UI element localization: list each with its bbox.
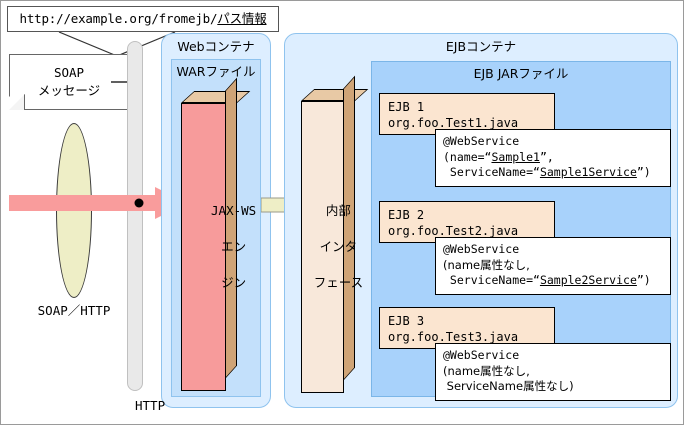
ejb-3-annotation-callout: @WebService (name属性なし, ServiceName属性なし) — [435, 343, 671, 401]
jaxws-engine-label: JAX-WS エン ジン — [151, 184, 256, 311]
ejb-3-annotation-line2: (name属性なし, — [443, 364, 663, 380]
ejb-2-annotation-line3-pre: ServiceName=“ — [443, 273, 540, 287]
ejb-jar-file-title: EJB JARファイル — [371, 66, 671, 82]
ejb-2-name: EJB 2 — [388, 207, 554, 223]
ejb-1-annotation-line2-pre: (name=“ — [443, 150, 491, 164]
jaxws-engine-line2: エン — [221, 239, 246, 254]
internal-interface-line2: インタ — [320, 239, 358, 254]
ejb-2-annotation-line1: @WebService — [443, 242, 663, 258]
ejb-1-name: EJB 1 — [388, 99, 554, 115]
ejb-1-annotation-line3: ServiceName=“Sample1Service”) — [443, 165, 663, 181]
ejb-1-annotation-line2-post: ”, — [540, 150, 554, 164]
ejb-1-annotation-callout: @WebService (name=“Sample1”, ServiceName… — [435, 129, 671, 187]
diagram-canvas: http://example.org/fromejb/パス情報 SOAP メッセ… — [0, 0, 684, 425]
ejb-2-annotation-line2-pre: (name属性なし, — [443, 258, 530, 272]
ejb-2-annotation-callout: @WebService (name属性なし, ServiceName=“Samp… — [435, 237, 671, 295]
ejb-2-annotation-line3: ServiceName=“Sample2Service”) — [443, 273, 663, 289]
ejb-1-annotation-servicename-value: Sample1Service — [540, 165, 637, 179]
ejb-3-name: EJB 3 — [388, 313, 554, 329]
soap-http-protocol-label: SOAP／HTTP — [19, 303, 129, 319]
ejb-1-annotation-name-value: Sample1 — [491, 150, 539, 164]
ejb-3-annotation-line1: @WebService — [443, 348, 663, 364]
jaxws-engine-line1: JAX-WS — [211, 203, 256, 218]
soap-message-line2: メッセージ — [38, 82, 100, 100]
jaxws-engine-line3: ジン — [221, 275, 246, 290]
soap-message-anchor-dot-icon — [132, 196, 146, 210]
ejb-container-title: EJBコンテナ — [284, 39, 678, 55]
internal-interface-box-front-face: 内部 インタ フェース — [301, 101, 344, 393]
internal-interface-line3: フェース — [314, 275, 363, 290]
http-server-label: HTTP サーバ — [97, 381, 173, 425]
ejb-3-annotation-line3-pre: ServiceName属性なし) — [443, 379, 574, 393]
jaxws-engine-box-front-face: JAX-WS エン ジン — [181, 103, 226, 391]
ejb-1-annotation-line3-pre: ServiceName=“ — [443, 165, 540, 179]
web-container-title: Webコンテナ — [161, 39, 271, 55]
ejb-2-annotation-line2: (name属性なし, — [443, 258, 663, 274]
ejb-3-annotation-line3: ServiceName属性なし) — [443, 379, 663, 395]
http-server-line1: HTTP — [135, 398, 165, 413]
war-file-title: WARファイル — [171, 64, 261, 80]
ejb-1-annotation-line3-post: ”) — [637, 165, 651, 179]
jaxws-engine-box-top-face — [181, 91, 250, 103]
ejb-1-annotation-line1: @WebService — [443, 134, 663, 150]
soap-message-line1: SOAP — [54, 64, 84, 82]
url-callout-box: http://example.org/fromejb/パス情報 — [7, 6, 279, 32]
internal-interface-line1: 内部 — [326, 203, 351, 218]
internal-interface-box: 内部 インタ フェース — [301, 89, 365, 393]
ejb-2-annotation-servicename-value: Sample2Service — [540, 273, 637, 287]
ejb-2-annotation-line3-post: ”) — [637, 273, 651, 287]
url-path-underlined-text: パス情報 — [217, 11, 266, 27]
url-prefix-text: http://example.org/fromejb/ — [20, 11, 218, 27]
internal-interface-box-top-face — [301, 89, 368, 101]
jaxws-engine-box: JAX-WS エン ジン — [181, 91, 249, 391]
internal-interface-label: 内部 インタ フェース — [282, 184, 363, 311]
ejb-1-annotation-line2: (name=“Sample1”, — [443, 150, 663, 166]
ejb-3-annotation-line2-pre: (name属性なし, — [443, 364, 530, 378]
